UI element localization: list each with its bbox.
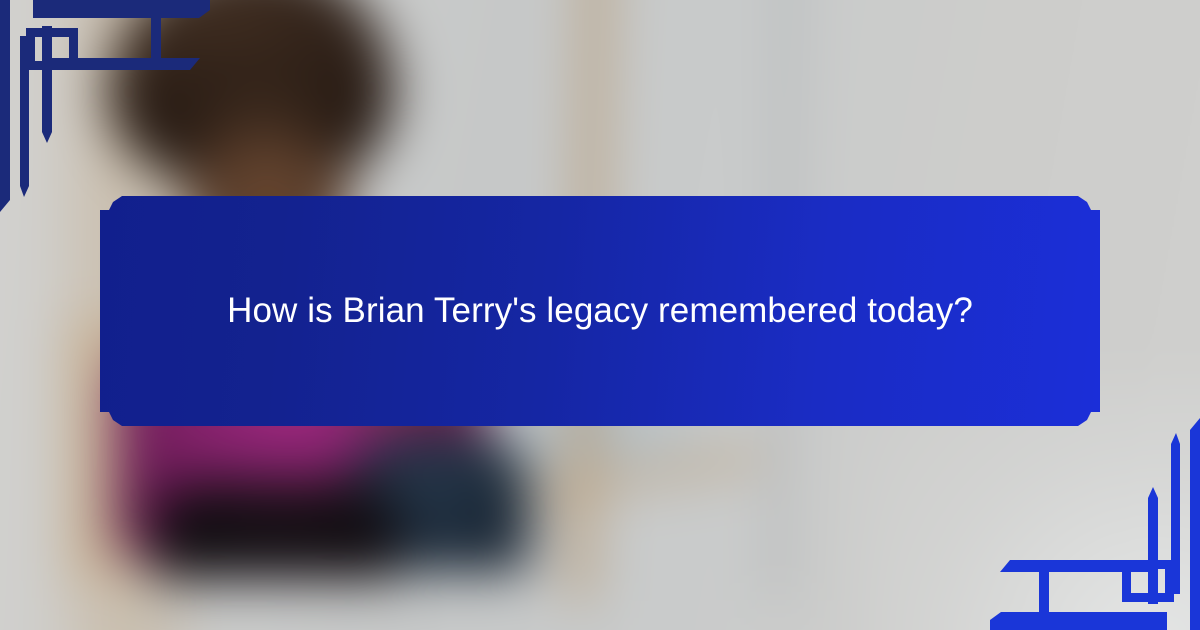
child-lower-shadow bbox=[155, 480, 395, 580]
quote-card: How is Brian Terry's legacy remembered t… bbox=[0, 0, 1200, 630]
title-banner: How is Brian Terry's legacy remembered t… bbox=[100, 196, 1100, 426]
page-title: How is Brian Terry's legacy remembered t… bbox=[227, 284, 973, 337]
